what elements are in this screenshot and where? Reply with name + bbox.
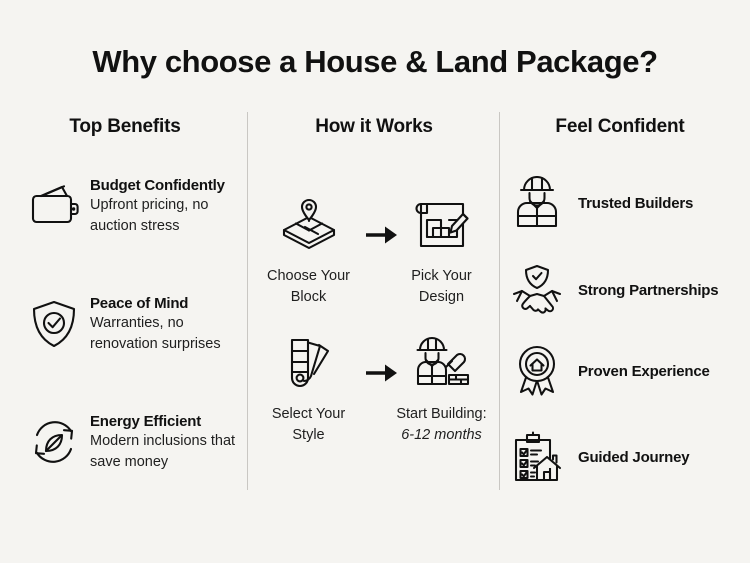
blueprint-pencil-icon <box>411 196 473 254</box>
step-label: Pick Your Design <box>389 266 494 308</box>
step-label-text: Start Building: <box>396 406 486 422</box>
benefit-title: Budget Confidently <box>90 177 225 194</box>
column-heading-feel-confident: Feel Confident <box>500 116 740 138</box>
benefit-item: Peace of Mind Warranties, no renovation … <box>28 292 236 355</box>
column-feel-confident: Feel Confident Trusted Builders <box>500 112 740 492</box>
benefit-item: Energy Efficient Modern inclusions that … <box>28 410 236 473</box>
confidence-item: Strong Partnerships <box>510 263 718 317</box>
column-how-it-works: How it Works Choose Your Block <box>249 112 499 492</box>
confidence-label: Strong Partnerships <box>578 282 718 299</box>
recycle-leaf-icon <box>28 416 80 468</box>
benefit-item: Budget Confidently Upfront pricing, no a… <box>28 174 236 237</box>
step-label: Start Building: 6-12 months <box>389 404 494 446</box>
column-top-benefits: Top Benefits Budget Confidently Upfront … <box>14 112 236 492</box>
color-swatch-fan-icon <box>278 334 340 392</box>
benefit-text: Budget Confidently Upfront pricing, no a… <box>90 174 236 237</box>
step-item: Select Your Style <box>256 334 361 446</box>
column-heading-how-it-works: How it Works <box>249 116 499 138</box>
confidence-label: Guided Journey <box>578 449 689 466</box>
map-pin-icon <box>278 196 340 254</box>
step-item: Pick Your Design <box>389 196 494 308</box>
benefit-text: Peace of Mind Warranties, no renovation … <box>90 292 236 355</box>
step-label-emphasis: 6-12 months <box>389 425 494 446</box>
columns-container: Top Benefits Budget Confidently Upfront … <box>0 112 750 492</box>
step-label: Choose Your Block <box>256 266 361 308</box>
handshake-shield-icon <box>510 263 564 317</box>
page-title: Why choose a House & Land Package? <box>0 44 750 80</box>
benefit-description: Upfront pricing, no auction stress <box>90 195 236 237</box>
builder-person-icon <box>510 176 564 230</box>
wallet-icon <box>28 180 80 232</box>
benefit-description: Warranties, no renovation surprises <box>90 313 236 355</box>
step-label: Select Your Style <box>256 404 361 446</box>
benefit-title: Energy Efficient <box>90 413 201 430</box>
benefit-description: Modern inclusions that save money <box>90 431 236 473</box>
column-heading-top-benefits: Top Benefits <box>14 116 236 138</box>
benefit-text: Energy Efficient Modern inclusions that … <box>90 410 236 473</box>
confidence-item: Guided Journey <box>510 430 689 484</box>
confidence-item: Proven Experience <box>510 344 710 398</box>
confidence-item: Trusted Builders <box>510 176 693 230</box>
confidence-label: Proven Experience <box>578 363 710 380</box>
step-item: Start Building: 6-12 months <box>389 334 494 446</box>
clipboard-house-icon <box>510 430 564 484</box>
award-house-icon <box>510 344 564 398</box>
infographic-page: Why choose a House & Land Package? Top B… <box>0 0 750 563</box>
shield-check-icon <box>28 298 80 350</box>
benefit-title: Peace of Mind <box>90 295 188 312</box>
builder-bricks-icon <box>411 334 473 392</box>
confidence-label: Trusted Builders <box>578 195 693 212</box>
step-item: Choose Your Block <box>256 196 361 308</box>
